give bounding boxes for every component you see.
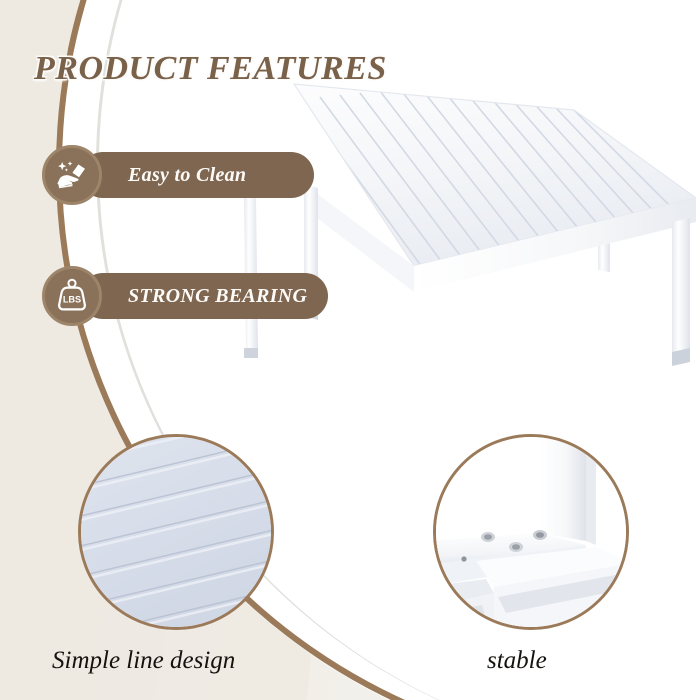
detail-circle-joint — [433, 434, 629, 630]
wiping-hand-sparkle-icon — [42, 145, 102, 205]
page-title: PRODUCT FEATURES — [34, 50, 387, 88]
feature-badge-pill: Easy to Clean — [80, 152, 314, 198]
feature-badge-label: STRONG BEARING — [128, 285, 307, 308]
product-image — [176, 80, 696, 380]
product-features-infographic: Easy to Clean STRONG BEARING — [0, 0, 700, 700]
detail-circle-slats — [78, 434, 274, 630]
feature-badge-pill: STRONG BEARING — [80, 273, 328, 319]
detail-caption-slats: Simple line design — [52, 647, 235, 675]
weight-icon-text: LBS — [63, 294, 81, 304]
table-leg-near-right — [672, 218, 690, 366]
weight-lbs-icon: LBS — [42, 266, 102, 326]
detail-caption-joint: stable — [487, 647, 547, 675]
feature-badge-label: Easy to Clean — [128, 164, 246, 187]
